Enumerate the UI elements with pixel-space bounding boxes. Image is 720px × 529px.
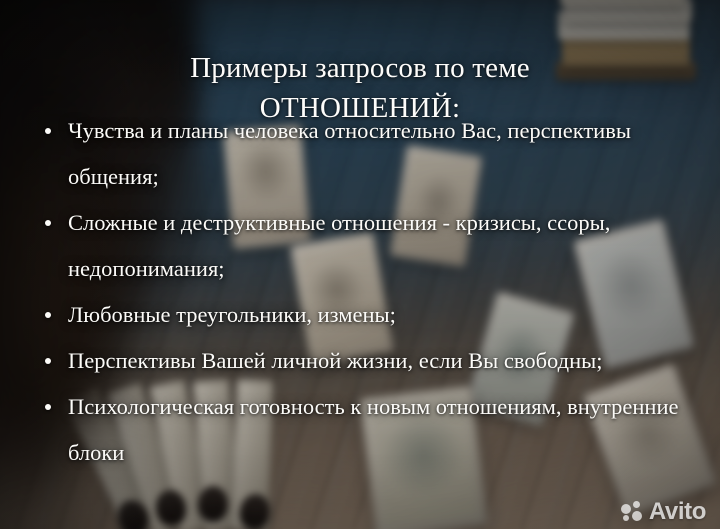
avito-dots-icon	[621, 501, 645, 523]
list-item: Сложные и деструктивные отношения - криз…	[42, 200, 702, 292]
list-item: Перспективы Вашей личной жизни, если Вы …	[42, 338, 702, 384]
avito-wordmark: Avito	[649, 500, 706, 524]
list-item-label: Перспективы Вашей личной жизни, если Вы …	[68, 338, 702, 384]
bullet-dot-icon	[45, 358, 51, 364]
text-overlay: Примеры запросов по теме ОТНОШЕНИЙ: Чувс…	[0, 0, 720, 529]
bullet-dot-icon	[45, 220, 51, 226]
bullet-dot-icon	[45, 128, 51, 134]
topic-list: Чувства и планы человека относительно Ва…	[42, 108, 702, 476]
bullet-dot-icon	[45, 404, 51, 410]
poster: Примеры запросов по теме ОТНОШЕНИЙ: Чувс…	[0, 0, 720, 529]
list-item: Любовные треугольники, измены;	[42, 292, 702, 338]
list-item-label: Любовные треугольники, измены;	[68, 292, 702, 338]
page-title-line-1: Примеры запросов по теме	[190, 52, 530, 84]
list-item-label: Чувства и планы человека относительно Ва…	[68, 108, 702, 200]
avito-watermark: Avito	[621, 500, 706, 524]
list-item: Психологическая готовность к новым отнош…	[42, 384, 702, 476]
list-item-label: Сложные и деструктивные отношения - криз…	[68, 200, 702, 292]
list-item: Чувства и планы человека относительно Ва…	[42, 108, 702, 200]
list-item-label: Психологическая готовность к новым отнош…	[68, 384, 702, 476]
bullet-dot-icon	[45, 312, 51, 318]
